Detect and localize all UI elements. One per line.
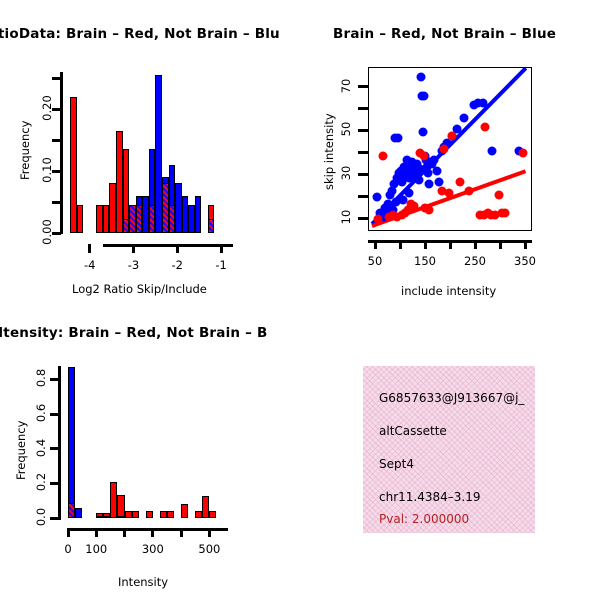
- scatter-point-brain: [445, 188, 454, 197]
- gene-info-symbol: Sept4: [379, 457, 414, 471]
- scatter-x-tick-mark: [499, 240, 502, 249]
- scatter-point-brain: [379, 151, 388, 160]
- scatter-x-tick-mark: [524, 240, 527, 249]
- gene-bar-red: [202, 496, 209, 518]
- scatter-point-brain: [410, 202, 419, 211]
- ratio-x-tick-mark: [132, 244, 135, 253]
- ratio-histogram-x-axis: [103, 244, 233, 247]
- scatter-x-tick-label: 350: [508, 254, 542, 268]
- gene-y-tick-label: 0.4: [34, 433, 48, 463]
- scatter-point-not-brain: [430, 156, 439, 165]
- ratio-bar-overlap: [208, 219, 215, 233]
- scatter-title: Brain – Red, Not Brain – Blue: [333, 26, 556, 42]
- gene-y-tick-label: 0.2: [34, 467, 48, 497]
- scatter-y-tick-mark: [358, 107, 368, 110]
- gene-bar-red: [146, 511, 153, 518]
- scatter-point-not-brain: [417, 72, 426, 81]
- scatter-point-brain: [447, 131, 456, 140]
- panel-ratio-histogram: RatioData: Brain – Red, Not Brain – Blu …: [0, 0, 300, 300]
- ratio-bar-red: [77, 205, 84, 233]
- gene-bar-overlap: [103, 516, 110, 518]
- gene-bar-red: [209, 511, 216, 518]
- gene-y-tick-mark: [50, 413, 61, 416]
- gene-bar-red: [160, 511, 167, 518]
- ratio-x-tick-label: -4: [76, 258, 104, 272]
- gene-histogram-x-axis: [70, 528, 228, 531]
- ratio-bar-blue: [188, 205, 195, 233]
- ratio-histogram-title: RatioData: Brain – Red, Not Brain – Blu: [0, 26, 280, 42]
- gene-y-tick-label: 0.0: [34, 502, 48, 532]
- gene-y-tick-mark: [50, 378, 61, 381]
- scatter-point-brain: [465, 186, 474, 195]
- scatter-y-tick-mark: [358, 151, 368, 154]
- scatter-x-tick-label: 250: [458, 254, 492, 268]
- ratio-x-tick-label: -1: [207, 258, 235, 272]
- scatter-point-not-brain: [435, 177, 444, 186]
- ratio-bar-overlap: [169, 205, 176, 233]
- ratio-bar-overlap: [136, 205, 143, 233]
- scatter-point-not-brain: [392, 197, 401, 206]
- scatter-point-not-brain: [419, 127, 428, 136]
- gene-histogram-y-axis: [58, 366, 61, 518]
- gene-info-event-type: altCassette: [379, 424, 447, 438]
- ratio-bar-blue: [195, 196, 202, 233]
- scatter-xlabel: include intensity: [401, 284, 496, 298]
- ratio-y-tick-label: 0.00: [40, 215, 54, 249]
- scatter-y-tick-mark: [358, 129, 368, 132]
- ratio-bar-overlap: [149, 205, 156, 233]
- scatter-point-brain: [425, 206, 434, 215]
- gene-bar-red: [125, 511, 132, 518]
- scatter-ylabel: skip intensity: [322, 113, 336, 190]
- scatter-point-not-brain: [394, 134, 403, 143]
- scatter-point-brain: [416, 149, 425, 158]
- ratio-histogram-ylabel: Frequency: [18, 121, 32, 180]
- scatter-x-tick-mark: [424, 240, 427, 249]
- scatter-point-not-brain: [432, 167, 441, 176]
- gene-y-tick-mark: [50, 517, 61, 520]
- gene-bar-red: [110, 482, 117, 518]
- gene-bar-overlap: [68, 503, 75, 518]
- gene-bar-red: [195, 511, 202, 518]
- gene-x-tick-label: 500: [191, 542, 227, 556]
- gene-y-tick-label: 0.8: [34, 363, 48, 393]
- scatter-x-tick-mark: [374, 240, 377, 249]
- scatter-y-tick-label: 30: [339, 159, 353, 187]
- gene-histogram-plot-area: [68, 362, 232, 518]
- ratio-x-tick-mark: [88, 244, 91, 253]
- gene-y-tick-label: 0.6: [34, 398, 48, 428]
- scatter-y-tick-mark: [358, 85, 368, 88]
- ratio-bar-red: [109, 183, 116, 233]
- scatter-plot-area: [368, 67, 532, 231]
- scatter-point-not-brain: [487, 147, 496, 156]
- gene-bar-blue: [68, 367, 75, 518]
- ratio-x-tick-label: -2: [163, 258, 191, 272]
- gene-x-tick-mark: [123, 528, 126, 537]
- scatter-point-brain: [481, 123, 490, 132]
- ratio-y-tick-mark: [52, 201, 61, 204]
- ratio-histogram-xlabel: Log2 Ratio Skip/Include: [72, 282, 207, 296]
- gene-bar-red: [132, 511, 139, 518]
- gene-info-panel: G6857633@J913667@j_ altCassette Sept4 ch…: [363, 366, 535, 533]
- ratio-histogram-y-axis: [60, 72, 63, 234]
- gene-histogram-ylabel: Frequency: [14, 421, 28, 480]
- gene-bar-red: [167, 511, 174, 518]
- scatter-y-tick-label: 10: [339, 203, 353, 231]
- panel-intensity-scatter: Brain – Red, Not Brain – Blue skip inten…: [300, 0, 600, 300]
- scatter-y-tick-mark: [358, 195, 368, 198]
- ratio-x-tick-mark: [176, 244, 179, 253]
- panel-gene-intensity-histogram: ne Itensity: Brain – Red, Not Brain – B …: [0, 300, 300, 600]
- ratio-x-tick-mark: [220, 244, 223, 253]
- scatter-point-brain: [385, 213, 394, 222]
- gene-bar-red: [117, 495, 124, 518]
- scatter-point-brain: [456, 177, 465, 186]
- scatter-point-brain: [440, 145, 449, 154]
- gene-histogram-title: ne Itensity: Brain – Red, Not Brain – B: [0, 325, 267, 341]
- scatter-point-not-brain: [420, 92, 429, 101]
- scatter-y-tick-label: 70: [339, 72, 353, 100]
- ratio-y-tick-mark: [52, 77, 61, 80]
- ratio-y-tick-label: 0.20: [40, 91, 54, 125]
- gene-info-id: G6857633@J913667@j_: [379, 391, 524, 405]
- scatter-point-brain: [374, 215, 383, 224]
- scatter-point-not-brain: [425, 180, 434, 189]
- scatter-point-brain: [519, 149, 528, 158]
- gene-y-tick-mark: [50, 447, 61, 450]
- scatter-point-not-brain: [460, 114, 469, 123]
- scatter-x-tick-mark: [449, 240, 452, 249]
- scatter-x-tick-mark: [399, 240, 402, 249]
- scatter-x-tick-label: 50: [358, 254, 392, 268]
- ratio-x-tick-label: -3: [119, 258, 147, 272]
- gene-x-tick-mark: [180, 528, 183, 537]
- figure-canvas: RatioData: Brain – Red, Not Brain – Blu …: [0, 0, 600, 600]
- gene-x-tick-label: 300: [135, 542, 171, 556]
- gene-y-tick-mark: [50, 482, 61, 485]
- ratio-bar-overlap: [129, 205, 136, 233]
- ratio-y-tick-label: 0.10: [40, 153, 54, 187]
- gene-x-tick-mark: [151, 528, 154, 537]
- scatter-y-tick-mark: [358, 217, 368, 220]
- scatter-y-tick-mark: [358, 173, 368, 176]
- gene-x-tick-mark: [208, 528, 211, 537]
- scatter-x-tick-label: 150: [408, 254, 442, 268]
- scatter-point-brain: [495, 191, 504, 200]
- gene-info-locus: chr11.4384–3.19: [379, 490, 480, 504]
- ratio-histogram-plot-area: [70, 72, 232, 233]
- scatter-point-brain: [501, 208, 510, 217]
- gene-bar-blue: [75, 508, 82, 518]
- gene-x-tick-label: 100: [78, 542, 114, 556]
- gene-x-tick-mark: [95, 528, 98, 537]
- scatter-point-not-brain: [479, 99, 488, 108]
- scatter-y-tick-label: 50: [339, 115, 353, 143]
- ratio-y-tick-mark: [52, 139, 61, 142]
- gene-info-pvalue: Pval: 2.000000: [379, 512, 469, 526]
- scatter-x-tick-mark: [474, 240, 477, 249]
- scatter-point-not-brain: [372, 193, 381, 202]
- gene-histogram-xlabel: Intensity: [118, 575, 168, 589]
- gene-bar-overlap: [96, 516, 103, 518]
- gene-x-tick-mark: [67, 528, 70, 537]
- scatter-point-not-brain: [415, 175, 424, 184]
- gene-bar-red: [181, 504, 188, 518]
- gene-bar-overlap: [117, 516, 124, 518]
